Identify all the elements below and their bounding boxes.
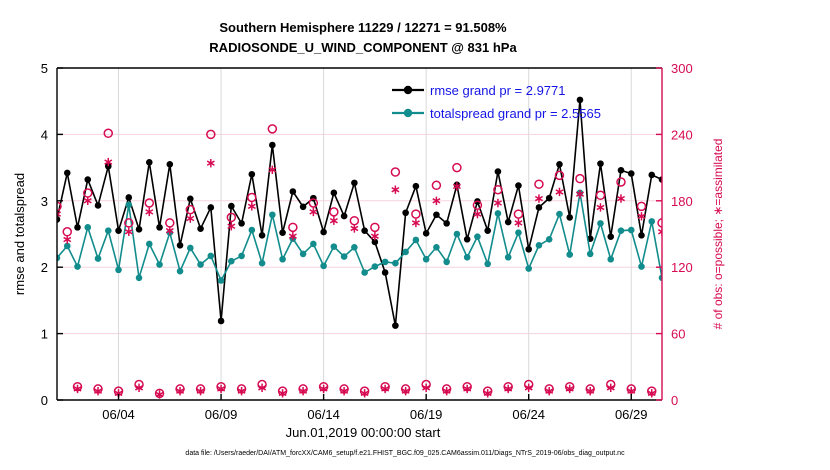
data-point-rmse <box>577 97 584 104</box>
data-point-rmse <box>618 167 625 174</box>
data-point-totalspread <box>259 260 266 267</box>
tick-label-bottom: 06/14 <box>307 407 340 422</box>
data-point-totalspread <box>279 256 286 263</box>
data-point-totalspread <box>454 231 461 238</box>
chart-title-line-2: RADIOSONDE_U_WIND_COMPONENT @ 831 hPa <box>209 40 517 55</box>
y-axis-label-right: # of obs: o=possible; ∗=assimilated <box>711 139 725 330</box>
data-point-rmse <box>197 225 204 232</box>
tick-label-right: 0 <box>671 393 678 408</box>
data-point-rmse <box>74 224 81 231</box>
data-point-rmse <box>566 214 573 221</box>
data-point-rmse <box>433 211 440 218</box>
data-point-rmse <box>443 220 450 227</box>
legend-marker-totalspread <box>404 109 412 117</box>
data-point-rmse <box>351 180 358 187</box>
data-point-totalspread <box>628 227 635 234</box>
legend-label-totalspread: totalspread grand pr = 2.5565 <box>430 106 601 121</box>
data-point-totalspread <box>464 254 471 261</box>
data-point-rmse <box>628 170 635 177</box>
tick-label-left: 5 <box>41 61 48 76</box>
data-point-totalspread <box>372 263 379 270</box>
data-point-rmse <box>228 203 235 210</box>
data-point-totalspread <box>433 244 440 251</box>
data-point-rmse <box>495 168 502 175</box>
data-point-totalspread <box>95 255 102 262</box>
chart-figure: Southern Hemisphere 11229 / 12271 = 91.5… <box>0 0 830 470</box>
data-point-rmse <box>146 159 153 166</box>
data-point-rmse <box>218 318 225 325</box>
legend-label-rmse: rmse grand pr = 2.9771 <box>430 83 566 98</box>
data-point-rmse <box>648 172 655 179</box>
data-point-totalspread <box>187 245 194 252</box>
data-point-rmse <box>238 220 245 227</box>
data-point-rmse <box>423 230 430 237</box>
data-point-rmse <box>536 204 543 211</box>
data-point-totalspread <box>546 236 553 243</box>
data-point-totalspread <box>84 224 91 231</box>
data-point-rmse <box>290 188 297 195</box>
data-point-rmse <box>84 176 91 183</box>
data-point-rmse <box>515 182 522 189</box>
data-point-totalspread <box>105 227 112 234</box>
tick-label-left: 0 <box>41 393 48 408</box>
data-point-totalspread <box>115 267 122 274</box>
data-point-totalspread <box>402 249 409 256</box>
data-point-rmse <box>320 229 327 236</box>
data-point-rmse <box>115 227 122 234</box>
data-point-rmse <box>249 171 256 178</box>
data-point-rmse <box>607 233 614 240</box>
data-point-totalspread <box>146 241 153 248</box>
data-point-totalspread <box>392 260 399 267</box>
data-point-rmse <box>525 246 532 253</box>
data-point-rmse <box>392 322 399 329</box>
data-point-totalspread <box>597 220 604 227</box>
data-point-totalspread <box>197 261 204 268</box>
data-point-totalspread <box>74 263 81 270</box>
data-point-totalspread <box>300 251 307 258</box>
data-point-totalspread <box>484 261 491 268</box>
tick-label-bottom: 06/19 <box>410 407 443 422</box>
tick-label-right: 120 <box>671 260 693 275</box>
data-point-totalspread <box>351 244 358 251</box>
data-point-totalspread <box>208 253 215 260</box>
data-point-rmse <box>331 190 338 197</box>
data-point-totalspread <box>238 253 245 260</box>
data-point-rmse <box>505 219 512 226</box>
footer-data-file-path: data file: /Users/raeder/DAI/ATM_forcXX/… <box>185 450 625 457</box>
data-point-totalspread <box>566 251 573 258</box>
data-point-totalspread <box>125 201 132 208</box>
data-point-totalspread <box>474 233 481 240</box>
tick-label-left: 2 <box>41 260 48 275</box>
data-point-totalspread <box>443 259 450 266</box>
data-point-totalspread <box>156 261 163 268</box>
data-point-rmse <box>341 213 348 220</box>
data-point-totalspread <box>607 256 614 263</box>
data-point-rmse <box>136 226 143 233</box>
data-point-rmse <box>167 161 174 168</box>
data-point-rmse <box>546 195 553 202</box>
tick-label-left: 3 <box>41 194 48 209</box>
tick-label-right: 240 <box>671 127 693 142</box>
data-point-totalspread <box>638 263 645 270</box>
data-point-totalspread <box>136 275 143 282</box>
x-axis-label: Jun.01,2019 00:00:00 start <box>286 425 441 440</box>
data-point-rmse <box>125 194 132 201</box>
data-point-rmse <box>464 236 471 243</box>
data-point-rmse <box>484 227 491 234</box>
data-point-totalspread <box>525 265 532 272</box>
data-point-totalspread <box>341 253 348 260</box>
data-point-rmse <box>361 227 368 234</box>
data-point-totalspread <box>648 218 655 225</box>
data-point-rmse <box>208 204 215 211</box>
tick-label-right: 60 <box>671 327 685 342</box>
data-point-rmse <box>156 224 163 231</box>
data-point-totalspread <box>382 259 389 266</box>
data-point-rmse <box>64 170 71 177</box>
data-point-rmse <box>638 232 645 239</box>
data-point-totalspread <box>495 210 502 217</box>
data-point-totalspread <box>249 227 256 234</box>
data-point-rmse <box>95 202 102 209</box>
tick-label-left: 1 <box>41 327 48 342</box>
data-point-totalspread <box>361 269 368 276</box>
data-point-totalspread <box>218 277 225 284</box>
data-point-rmse <box>402 209 409 216</box>
data-point-totalspread <box>228 258 235 265</box>
data-point-totalspread <box>269 211 276 218</box>
data-point-totalspread <box>320 263 327 270</box>
data-point-rmse <box>597 160 604 167</box>
legend-marker-rmse <box>404 86 412 94</box>
tick-label-right: 300 <box>671 61 693 76</box>
data-point-rmse <box>269 142 276 149</box>
tick-label-left: 4 <box>41 127 48 142</box>
data-point-totalspread <box>556 211 563 218</box>
tick-label-right: 180 <box>671 194 693 209</box>
tick-label-bottom: 06/24 <box>512 407 545 422</box>
chart-title-line-1: Southern Hemisphere 11229 / 12271 = 91.5… <box>219 20 507 35</box>
data-point-totalspread <box>413 237 420 244</box>
tick-label-bottom: 06/09 <box>205 407 238 422</box>
tick-label-bottom: 06/04 <box>102 407 135 422</box>
data-point-rmse <box>556 161 563 168</box>
data-point-rmse <box>413 183 420 190</box>
data-point-totalspread <box>536 242 543 249</box>
data-point-rmse <box>279 229 286 236</box>
data-point-totalspread <box>177 268 184 275</box>
data-point-totalspread <box>618 227 625 234</box>
data-point-rmse <box>259 232 266 239</box>
data-point-rmse <box>382 269 389 276</box>
data-point-totalspread <box>515 229 522 236</box>
data-point-totalspread <box>331 243 338 250</box>
data-point-totalspread <box>505 254 512 261</box>
data-point-totalspread <box>587 251 594 258</box>
data-point-totalspread <box>423 256 430 263</box>
data-point-rmse <box>177 242 184 249</box>
y-axis-label-left: rmse and totalspread <box>12 173 27 295</box>
data-point-rmse <box>300 203 307 210</box>
data-point-rmse <box>187 196 194 203</box>
tick-label-bottom: 06/29 <box>615 407 648 422</box>
data-point-totalspread <box>310 241 317 248</box>
